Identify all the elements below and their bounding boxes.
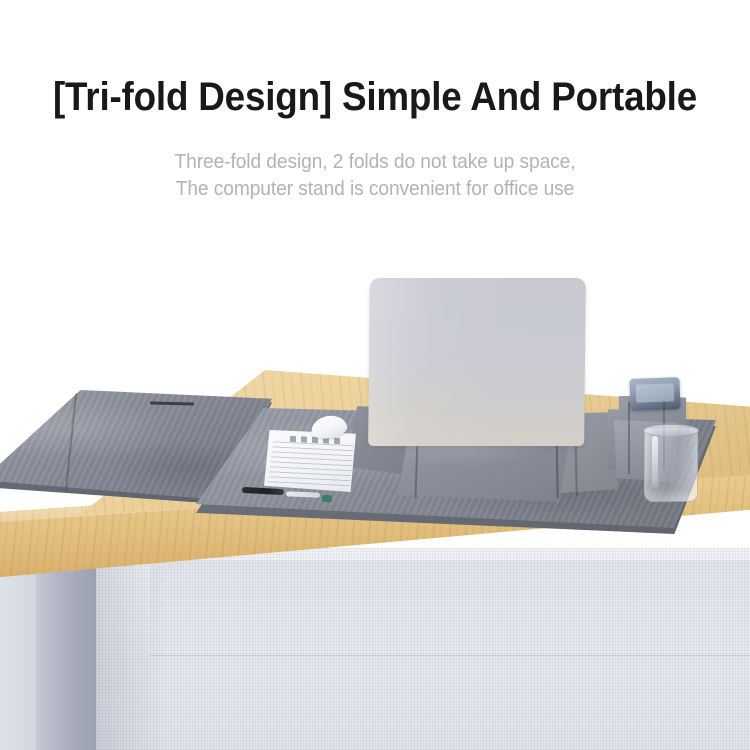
floor-seam [150, 655, 750, 656]
floor-shadow [150, 560, 750, 660]
desk-leg-face [0, 556, 36, 750]
smartphone-screen [636, 383, 675, 402]
drinking-glass-highlight [652, 436, 658, 488]
page-subtitle: Three-fold design, 2 folds do not take u… [15, 149, 735, 203]
laptop-lid-highlight [368, 278, 586, 446]
desk-leg-shadow [96, 560, 166, 750]
product-photo-scene [0, 230, 750, 750]
drinking-glass-rim [643, 424, 699, 437]
subtitle-line-2: The computer stand is convenient for off… [15, 176, 735, 203]
subtitle-line-1: Three-fold design, 2 folds do not take u… [15, 149, 735, 176]
product-marketing-image: [Tri-fold Design] Simple And Portable Th… [0, 0, 750, 750]
marker-green [322, 495, 332, 502]
caddy-divider-1 [628, 402, 630, 474]
page-headline: [Tri-fold Design] Simple And Portable [30, 74, 720, 120]
